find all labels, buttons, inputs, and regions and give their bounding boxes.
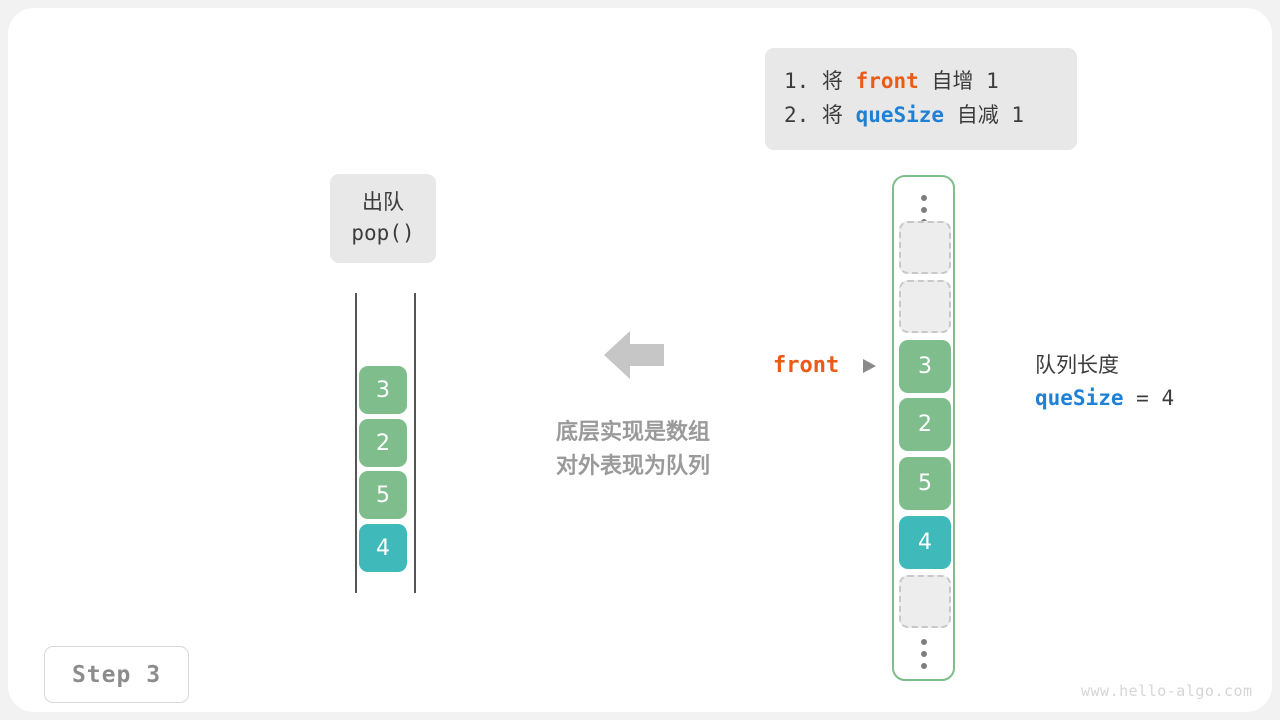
- front-pointer: front: [773, 348, 883, 384]
- front-arrowhead-icon: [863, 359, 876, 373]
- queue-rail-right: [414, 293, 416, 593]
- array-cell: 5: [899, 457, 951, 510]
- queue-cell: 2: [359, 419, 407, 467]
- instruction-line-2: 2. 将 queSize 自减 1: [784, 98, 1077, 132]
- array-cell-value: 5: [918, 471, 932, 496]
- array-cell-value: 3: [918, 354, 932, 379]
- queue-cell: 4: [359, 524, 407, 572]
- instruction-box: 1. 将 front 自增 1 2. 将 queSize 自减 1: [765, 48, 1077, 150]
- watermark: www.hello-algo.com: [1081, 682, 1253, 700]
- array-cell-empty: [899, 221, 951, 274]
- instruction-line-2-suffix: 自减 1: [944, 103, 1024, 127]
- array-cell: 3: [899, 340, 951, 393]
- instruction-line-1-suffix: 自增 1: [919, 69, 999, 93]
- quesize-var-name: queSize: [1035, 386, 1124, 410]
- quesize-token: queSize: [856, 103, 945, 127]
- front-token: front: [856, 69, 919, 93]
- operation-code: pop(): [330, 218, 436, 249]
- queue-cell-value: 3: [376, 378, 390, 403]
- queue-cell-value: 5: [376, 483, 390, 508]
- queue-cell: 5: [359, 471, 407, 519]
- array-cell-empty: [899, 280, 951, 333]
- slide-card: 1. 将 front 自增 1 2. 将 queSize 自减 1 出队 pop…: [8, 8, 1272, 712]
- left-queue-diagram: 3 2 5 4: [348, 288, 428, 600]
- instruction-line-1: 1. 将 front 自增 1: [784, 64, 1077, 98]
- operation-title: 出队: [330, 187, 436, 218]
- front-pointer-label: front: [773, 348, 839, 384]
- quesize-label: 队列长度: [1035, 350, 1265, 381]
- ellipsis-bottom-icon: [921, 639, 927, 669]
- step-badge-label: Step 3: [72, 662, 161, 688]
- quesize-annotation: 队列长度 queSize = 4: [1035, 350, 1265, 415]
- instruction-line-1-prefix: 1. 将: [784, 69, 856, 93]
- array-cell-empty: [899, 575, 951, 628]
- instruction-line-2-prefix: 2. 将: [784, 103, 856, 127]
- center-caption-line-2: 对外表现为队列: [508, 450, 758, 484]
- step-badge: Step 3: [44, 646, 189, 703]
- slide-background: 1. 将 front 自增 1 2. 将 queSize 自减 1 出队 pop…: [0, 0, 1280, 720]
- queue-rail-left: [355, 293, 357, 593]
- center-caption: 底层实现是数组 对外表现为队列: [508, 416, 758, 484]
- queue-cell-value: 2: [376, 431, 390, 456]
- queue-cell: 3: [359, 366, 407, 414]
- array-cell: 4: [899, 516, 951, 569]
- queue-cell-value: 4: [376, 536, 390, 561]
- quesize-equals: =: [1124, 386, 1162, 410]
- array-cell: 2: [899, 398, 951, 451]
- operation-label-box: 出队 pop(): [330, 174, 436, 263]
- quesize-expression: queSize = 4: [1035, 381, 1265, 415]
- array-container: 3 2 5 4: [892, 175, 955, 681]
- center-caption-line-1: 底层实现是数组: [508, 416, 758, 450]
- array-cell-value: 2: [918, 412, 932, 437]
- quesize-value: 4: [1161, 386, 1174, 410]
- left-arrow-icon: [604, 328, 664, 382]
- array-cell-value: 4: [918, 530, 932, 555]
